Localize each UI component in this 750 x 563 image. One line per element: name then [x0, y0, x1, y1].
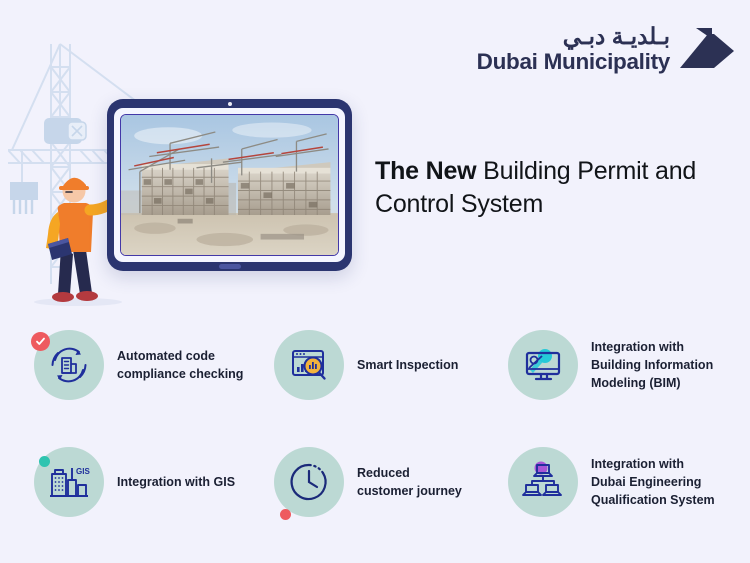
feature-reduced-customer-journey[interactable]: Reduced customer journey	[274, 447, 462, 517]
feature-icon-circle	[34, 330, 104, 400]
feature-icon-circle: GIS	[34, 447, 104, 517]
gis-icon-text: GIS	[76, 467, 90, 476]
check-icon	[35, 336, 46, 347]
tablet-screen	[120, 114, 339, 256]
feature-icon-circle	[508, 330, 578, 400]
dashboard-magnifier-icon	[288, 344, 330, 386]
feature-smart-inspection[interactable]: Smart Inspection	[274, 330, 458, 400]
page-title-bold: The New	[375, 157, 476, 185]
building-refresh-cycle-icon	[48, 344, 90, 386]
laptop-network-icon	[521, 460, 565, 504]
tablet-device	[107, 99, 352, 271]
teal-dot-badge	[39, 456, 50, 467]
feature-icon-circle	[274, 330, 344, 400]
feature-label: Smart Inspection	[357, 356, 458, 374]
feature-label: Automated code compliance checking	[117, 347, 243, 383]
logo-text: بـلديـة دبـي Dubai Municipality	[477, 23, 670, 74]
logo-latin-name: Dubai Municipality	[477, 51, 670, 74]
tablet-home-button[interactable]	[219, 264, 241, 269]
feature-integration-with-gis[interactable]: GIS Integration with GIS	[34, 447, 235, 517]
feature-label: Reduced customer journey	[357, 464, 462, 500]
logo-arabic-name: بـلديـة دبـي	[477, 23, 670, 49]
feature-icon-circle	[274, 447, 344, 517]
check-badge	[31, 332, 50, 351]
clock-icon	[287, 460, 331, 504]
feature-integration-with-bim[interactable]: Integration with Building Information Mo…	[508, 330, 713, 400]
page-title: The New Building Permit and Control Syst…	[375, 155, 705, 221]
feature-automated-code-compliance-checking[interactable]: Automated code compliance checking	[34, 330, 243, 400]
construction-site-photo	[121, 115, 338, 256]
dubai-municipality-arrow-mark-icon	[678, 22, 736, 74]
feature-integration-with-dubai-engineering-qualification-system[interactable]: Integration with Dubai Engineering Quali…	[508, 447, 715, 517]
monitor-bim-icon	[522, 344, 564, 386]
tablet-camera-icon	[228, 102, 232, 106]
feature-label: Integration with Building Information Mo…	[591, 338, 713, 392]
feature-label: Integration with GIS	[117, 473, 235, 491]
tablet-inner-frame	[114, 108, 345, 262]
feature-icon-circle	[508, 447, 578, 517]
feature-label: Integration with Dubai Engineering Quali…	[591, 455, 715, 509]
dubai-municipality-logo: بـلديـة دبـي Dubai Municipality	[477, 22, 736, 74]
red-dot-badge	[280, 509, 291, 520]
city-buildings-gis-icon: GIS	[47, 460, 91, 504]
